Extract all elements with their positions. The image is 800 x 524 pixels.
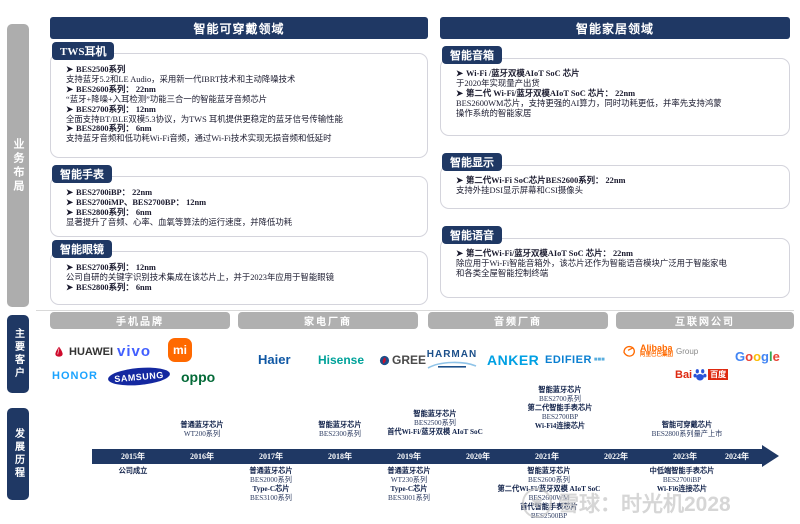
logo-vivo: vivo (117, 343, 151, 360)
arrow-bullet-icon: ➤ (66, 124, 73, 133)
alibaba-mark-icon (622, 344, 638, 358)
desc-item: “蓝牙+降噪+入耳检测”功能三合一的智能蓝牙音频芯片 (66, 95, 418, 105)
logo-alibaba-cn-label: 阿里巴巴集团 (640, 353, 673, 359)
logo-oppo: oppo (181, 369, 215, 385)
logo-alibaba: Alibaba 阿里巴巴集团 Group (622, 344, 698, 359)
logo-huawei-label: HUAWEI (69, 346, 113, 358)
logo-edifier: EDIFIER ■■■ (545, 354, 605, 366)
customer-group-header-internet-label: 互联网公司 (675, 313, 735, 328)
logo-alibaba-group-label: Group (676, 347, 698, 356)
card-tws-earbuds-title-label: TWS耳机 (60, 43, 106, 59)
bullet-item: ➤BES2800系列： 6nm (66, 208, 418, 218)
arrow-bullet-icon: ➤ (66, 105, 73, 114)
customer-group-header-appliance-label: 家电厂商 (304, 313, 352, 328)
logo-gree-label: GREE (392, 353, 426, 367)
card-smart-display-title-label: 智能显示 (450, 154, 494, 170)
sidebar-tab-business-layout[interactable]: 业务布局 (7, 24, 29, 307)
sidebar-tab-main-customers-label: 主要客户 (11, 328, 26, 380)
timeline-note-2022: 智能蓝牙芯片 BES2700系列 第二代智能手表芯片 BES2700BP Wi-… (490, 386, 630, 431)
desc-item: 支持蓝牙5.2和LE Audio，采用新一代IBRT技术和主动降噪技术 (66, 75, 418, 85)
column-header-wearables: 智能可穿戴领域 (50, 17, 428, 39)
timeline-year-2015[interactable]: 2015年 (108, 449, 158, 464)
card-smart-display-title: 智能显示 (442, 153, 502, 171)
bullet-item: ➤BES2700iBP： 22nm (66, 188, 418, 198)
bullet-item: ➤BES2600系列： 22nm (66, 85, 418, 95)
bullet-item: ➤BES2800系列： 6nm (66, 283, 418, 293)
logo-edifier-sub: ■■■ (594, 357, 605, 363)
bullet-item: ➤BES2800系列： 6nm (66, 124, 418, 134)
customer-group-header-audio-label: 音频厂商 (494, 313, 542, 328)
sidebar-tab-history[interactable]: 发展历程 (7, 408, 29, 500)
timeline-year-2016[interactable]: 2016年 (177, 449, 227, 464)
desc-item: BES2600WM芯片，支持更强的AI算力，同时功耗更低，并率先支持鸿蒙 (456, 99, 780, 109)
card-smart-voice-title: 智能语音 (442, 226, 502, 244)
desc-item: 支持外挂DSI显示屏幕和CSI摄像头 (456, 186, 780, 196)
bullet-item: ➤BES2700系列： 12nm (66, 105, 418, 115)
logo-honor-label: HONOR (52, 370, 98, 382)
bullet-item: ➤第二代Wi-Fi/蓝牙双模AIoT SoC 芯片： 22nm (456, 249, 780, 259)
timeline-note-2023: 中低端智能手表芯片 BES2700iBP Wi-Fi6连接芯片 (612, 467, 752, 494)
arrow-bullet-icon: ➤ (66, 85, 73, 94)
logo-haier: Haier (258, 352, 291, 367)
logo-google: Google Google (735, 349, 780, 364)
slide-root: 业务布局 主要客户 发展历程 智能可穿戴领域 TWS耳机 ➤BES2500系列 … (0, 0, 800, 524)
timeline-year-2017[interactable]: 2017年 (246, 449, 296, 464)
desc-item: 于2020年实现量产出货 (456, 79, 780, 89)
sidebar-tab-main-customers[interactable]: 主要客户 (7, 315, 29, 393)
logo-harman: HARMAN (426, 349, 478, 370)
timeline-note-2017: 普通蓝牙芯片 BES2000系列 Type-C芯片 BES3100系列 (221, 467, 321, 503)
column-header-wearables-label: 智能可穿戴领域 (193, 20, 284, 37)
card-smart-speaker-title-label: 智能音箱 (450, 47, 494, 63)
column-header-smart-home: 智能家居领域 (440, 17, 790, 39)
logo-edifier-label: EDIFIER (545, 354, 592, 366)
bullet-item: ➤Wi-Fi /蓝牙双模AIoT SoC 芯片 (456, 69, 780, 79)
customer-group-header-appliance: 家电厂商 (238, 312, 418, 329)
desc-item: 和各类全屋智能控制终端 (456, 269, 780, 279)
logo-samsung-oval: SAMSUNG (107, 365, 170, 387)
section-divider (36, 310, 794, 311)
desc-item: 支持蓝牙音频和低功耗Wi-Fi音频，通过Wi-Fi技术实现无损音频和低延时 (66, 134, 418, 144)
card-smart-display-body: ➤第二代Wi-Fi SoC芯片BES2600系列： 22nm 支持外挂DSI显示… (442, 172, 788, 198)
huawei-flower-icon (52, 345, 66, 359)
card-smart-watch-title: 智能手表 (52, 165, 112, 183)
arrow-bullet-icon: ➤ (66, 208, 73, 217)
timeline-year-2023[interactable]: 2023年 (660, 449, 710, 464)
logo-anker: ANKER (487, 352, 539, 368)
bullet-item: ➤BES2700iMP、BES2700BP： 12nm (66, 198, 418, 208)
logo-baidu-right-label: 百度 (708, 369, 728, 380)
desc-item: 除应用于Wi-Fi智能音箱外，该芯片还作为智能语音模块广泛用于智能家电 (456, 259, 780, 269)
timeline-year-2019[interactable]: 2019年 (384, 449, 434, 464)
timeline-note-2015: 公司成立 (83, 467, 183, 476)
customer-group-header-audio: 音频厂商 (428, 312, 608, 329)
arrow-bullet-icon: ➤ (66, 188, 73, 197)
timeline-arrow-icon (762, 445, 779, 467)
card-tws-earbuds-title: TWS耳机 (52, 42, 114, 60)
bullet-item: ➤第二代 Wi-Fi/蓝牙双模AIoT SoC 芯片： 22nm (456, 89, 780, 99)
card-smart-speaker-title: 智能音箱 (442, 46, 502, 64)
timeline-note-2021: 智能蓝牙芯片 BES2600系列 第二代Wi-Fi/蓝牙双模 AIoT SoC … (474, 467, 624, 521)
arrow-bullet-icon: ➤ (66, 198, 73, 207)
logo-baidu: Bai 百度 (675, 368, 728, 381)
arrow-bullet-icon: ➤ (456, 89, 463, 98)
logo-gree: GREE (379, 353, 426, 367)
arrow-bullet-icon: ➤ (456, 176, 463, 185)
logo-honor: HONOR (52, 370, 98, 382)
logo-harman-label: HARMAN (427, 349, 477, 360)
desc-item: 显著提升了音频、心率、血氧等算法的运行速度，并降低功耗 (66, 218, 418, 228)
logo-hisense: Hisense (318, 353, 364, 367)
card-smart-voice-title-label: 智能语音 (450, 227, 494, 243)
card-smart-glasses-title: 智能眼镜 (52, 240, 112, 258)
customer-group-header-internet: 互联网公司 (616, 312, 794, 329)
gree-mark-icon (379, 355, 390, 366)
desc-item: 公司自研的关键字识别技术集成在该芯片上，并于2023年应用于智能眼镜 (66, 273, 418, 283)
card-smart-watch-body: ➤BES2700iBP： 22nm ➤BES2700iMP、BES2700BP：… (52, 184, 426, 230)
logo-xiaomi: mi (168, 338, 192, 362)
desc-item: 全面支持BT/BLE双模5.3协议，为TWS 耳机提供更稳定的蓝牙信号传输性能 (66, 115, 418, 125)
sidebar-tab-business-layout-label: 业务布局 (10, 138, 26, 194)
timeline-note-2020: 智能蓝牙芯片 BES2500系列 首代Wi-Fi/蓝牙双模 AIoT SoC (360, 410, 510, 437)
logo-samsung: SAMSUNG (108, 368, 170, 385)
timeline-year-2024[interactable]: 2024年 (712, 449, 762, 464)
timeline-note-2019: 普通蓝牙芯片 WT230系列 Type-C芯片 BES3001系列 (359, 467, 459, 503)
customer-group-header-phone-label: 手机品牌 (116, 313, 164, 328)
timeline-year-2022[interactable]: 2022年 (591, 449, 641, 464)
logo-xiaomi-mark: mi (168, 338, 192, 362)
bullet-item: ➤BES2500系列 (66, 65, 418, 75)
column-header-smart-home-label: 智能家居领域 (576, 20, 654, 37)
timeline-year-2021[interactable]: 2021年 (522, 449, 572, 464)
arrow-bullet-icon: ➤ (66, 65, 73, 74)
logo-haier-label: Haier (258, 352, 291, 367)
logo-vivo-label: vivo (117, 343, 151, 360)
arrow-bullet-icon: ➤ (456, 69, 463, 78)
logo-hisense-label: Hisense (318, 353, 364, 367)
baidu-bear-icon (693, 368, 707, 381)
logo-anker-label: ANKER (487, 352, 539, 368)
card-smart-glasses-body: ➤BES2700系列： 12nm 公司自研的关键字识别技术集成在该芯片上，并于2… (52, 259, 426, 295)
logo-samsung-label: SAMSUNG (114, 369, 164, 383)
card-smart-voice-body: ➤第二代Wi-Fi/蓝牙双模AIoT SoC 芯片： 22nm 除应用于Wi-F… (442, 245, 788, 281)
arrow-bullet-icon: ➤ (66, 283, 73, 292)
bullet-item: ➤BES2700系列： 12nm (66, 263, 418, 273)
sidebar-tab-history-label: 发展历程 (11, 428, 26, 480)
harman-swoosh-icon (426, 360, 478, 370)
logo-xiaomi-label: mi (173, 343, 187, 357)
bullet-item: ➤第二代Wi-Fi SoC芯片BES2600系列： 22nm (456, 176, 780, 186)
arrow-bullet-icon: ➤ (66, 263, 73, 272)
timeline-year-2018[interactable]: 2018年 (315, 449, 365, 464)
timeline-note-2024: 智能可穿戴芯片 BES2800系列量产上市 (612, 421, 762, 439)
logo-huawei: HUAWEI (52, 345, 113, 359)
logo-baidu-left-label: Bai (675, 369, 692, 381)
card-tws-earbuds-body: ➤BES2500系列 支持蓝牙5.2和LE Audio，采用新一代IBRT技术和… (52, 61, 426, 146)
arrow-bullet-icon: ➤ (456, 249, 463, 258)
logo-oppo-label: oppo (181, 369, 215, 385)
card-smart-watch-title-label: 智能手表 (60, 166, 104, 182)
card-smart-glasses-title-label: 智能眼镜 (60, 241, 104, 257)
timeline-year-2020[interactable]: 2020年 (453, 449, 503, 464)
desc-item: 操作系统的智能家居 (456, 109, 780, 119)
card-smart-speaker-body: ➤Wi-Fi /蓝牙双模AIoT SoC 芯片 于2020年实现量产出货 ➤第二… (442, 65, 788, 121)
timeline-note-2016: 普通蓝牙芯片 WT200系列 (152, 421, 252, 439)
customer-group-header-phone: 手机品牌 (50, 312, 230, 329)
